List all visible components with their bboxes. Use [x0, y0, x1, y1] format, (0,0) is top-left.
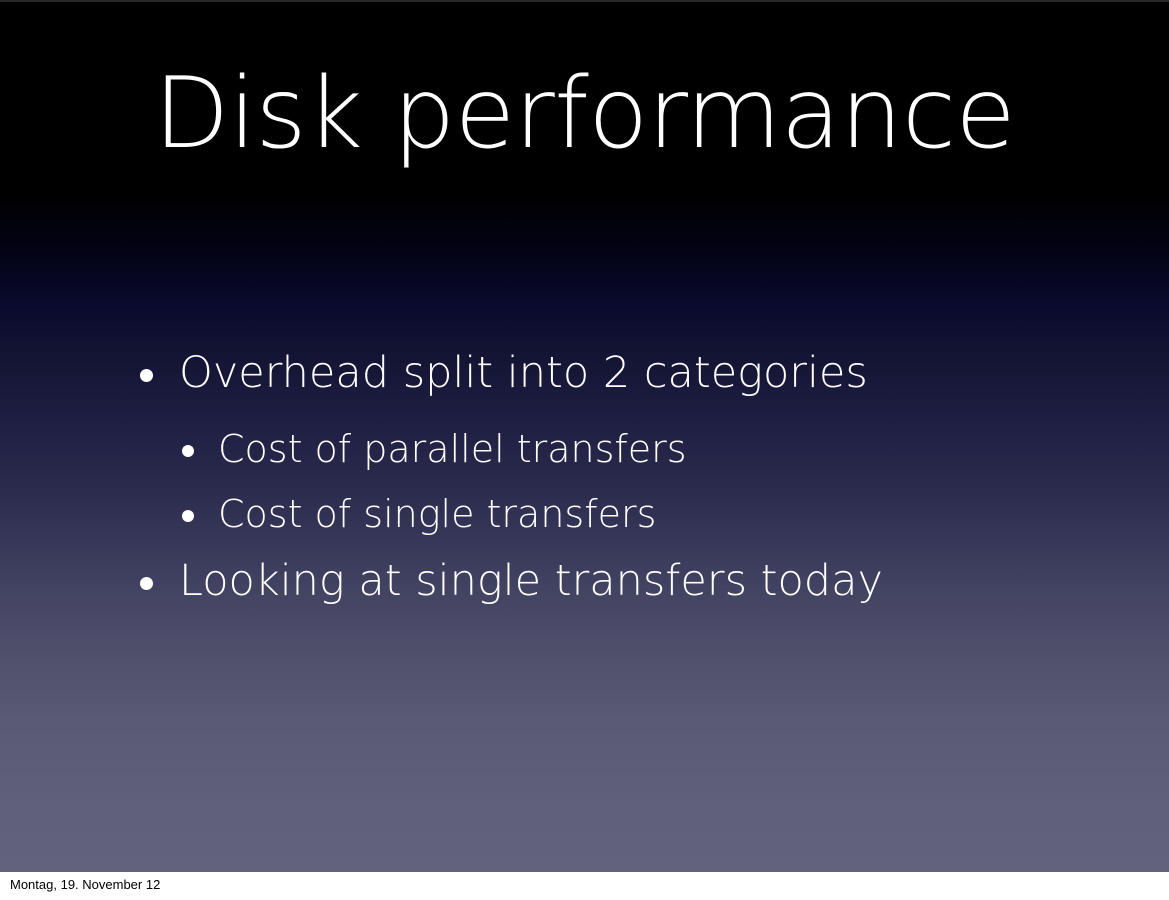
bullet-text: Cost of parallel transfers: [218, 430, 687, 468]
slide-title: Disk performance: [0, 62, 1169, 168]
bullet-dot-icon: [140, 577, 153, 590]
bullet-text: Cost of single transfers: [218, 495, 656, 533]
list-item: Looking at single transfers today: [140, 560, 1040, 603]
bullet-list: Overhead split into 2 categories Cost of…: [140, 352, 1040, 638]
bullet-text: Overhead split into 2 categories: [179, 352, 868, 395]
list-item: Overhead split into 2 categories: [140, 352, 1040, 395]
footer-bar: Montag, 19. November 12: [0, 872, 1169, 900]
bullet-dot-icon: [182, 510, 194, 522]
bullet-text: Looking at single transfers today: [179, 560, 883, 603]
slide-canvas: Disk performance Overhead split into 2 c…: [0, 0, 1169, 872]
footer-date: Montag, 19. November 12: [10, 876, 160, 894]
bullet-dot-icon: [140, 369, 153, 382]
bullet-dot-icon: [182, 445, 194, 457]
slide-top-edge: [0, 0, 1169, 2]
presentation-root: Disk performance Overhead split into 2 c…: [0, 0, 1169, 900]
list-item: Cost of parallel transfers: [182, 430, 1040, 468]
list-item: Cost of single transfers: [182, 495, 1040, 533]
